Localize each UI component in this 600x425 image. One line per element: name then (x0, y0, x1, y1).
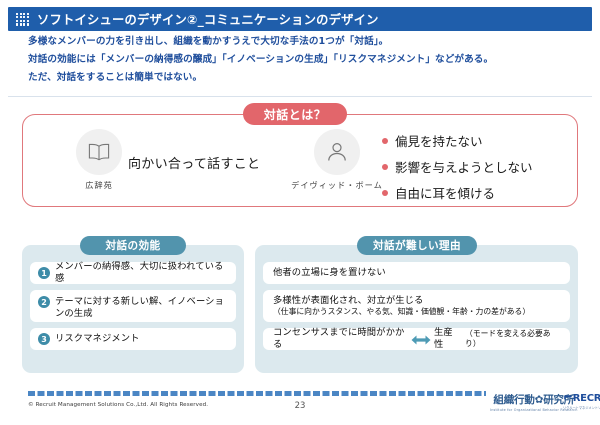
bullet-item: 影響を与えようとしない (382, 157, 533, 176)
bullet-dot-icon (382, 164, 388, 170)
slide-header: ソフトイシューのデザイン②_コミュニケーションのデザイン (8, 7, 592, 31)
bullet-label: 影響を与えようとしない (395, 157, 533, 176)
bullet-label: 自由に耳を傾ける (395, 183, 495, 202)
difficulty-label-after: 生産性 (434, 327, 461, 351)
grid-icon (16, 13, 29, 26)
intro-line-3: ただ、対話をすることは簡単ではない。 (28, 72, 588, 85)
panel-benefits-title: 対話の効能 (80, 236, 186, 255)
difficulty-label-before: コンセンサスまでに時間がかかる (273, 327, 408, 351)
intro-line-1: 多様なメンバーの力を引き出し、組織を動かすうえで大切な手法の1つが「対話」。 (28, 36, 588, 49)
source-caption: デイヴィッド・ボーム (288, 179, 386, 191)
footer-bar (28, 391, 486, 396)
panel-difficulties-title: 対話が難しい理由 (357, 236, 477, 255)
difficulty-item-3: コンセンサスまでに時間がかかる 生産性 （モードを変える必要あり） (263, 328, 570, 350)
recruit-mark-icon: ⌐ (563, 391, 573, 403)
benefit-item-2: 2 テーマに対する新しい解、イノベーションの生成 (30, 290, 236, 322)
difficulty-item-2: 多様性が表面化され、対立が生じる （仕事に向かうスタンス、やる気、知識・価値観・… (263, 290, 570, 322)
intro-line-2: 対話の効能には「メンバーの納得感の醸成」「イノベーションの生成」「リスクマネジメ… (28, 54, 588, 67)
double-arrow-icon (411, 330, 431, 349)
benefit-item-3: 3 リスクマネジメント (30, 328, 236, 350)
page-title: ソフトイシューのデザイン②_コミュニケーションのデザイン (37, 10, 379, 28)
slide: ソフトイシューのデザイン②_コミュニケーションのデザイン 多様なメンバーの力を引… (0, 0, 600, 425)
logo-recruit-name: ⌐RECRUIT (563, 391, 600, 404)
definition-phrase: 向かい合って話すこと (128, 153, 260, 172)
number-badge: 1 (38, 267, 50, 279)
source-caption: 広辞苑 (64, 179, 134, 191)
benefit-label: メンバーの納得感、大切に扱われている感 (55, 261, 228, 285)
difficulty-label: 多様性が表面化され、対立が生じる (273, 295, 423, 307)
difficulty-item-1: 他者の立場に身を置けない (263, 262, 570, 284)
bullet-item: 自由に耳を傾ける (382, 183, 533, 202)
benefit-label: リスクマネジメント (55, 333, 140, 345)
definition-badge: 対話とは？ (243, 103, 347, 125)
source-kojien: 広辞苑 (64, 129, 134, 191)
bullet-dot-icon (382, 138, 388, 144)
source-david-bohm: デイヴィッド・ボーム (288, 129, 386, 191)
difficulty-sublabel-inline: （モードを変える必要あり） (465, 329, 562, 349)
benefit-item-1: 1 メンバーの納得感、大切に扱われている感 (30, 262, 236, 284)
number-badge: 2 (38, 296, 50, 308)
number-badge: 3 (38, 333, 50, 345)
book-icon (76, 129, 122, 175)
difficulty-sublabel: （仕事に向かうスタンス、やる気、知識・価値観・年齢・力の差がある） (273, 307, 530, 317)
logo-recruit: ⌐RECRUIT リクルートマネジメントソリューションズ (563, 391, 600, 410)
difficulty-label: 他者の立場に身を置けない (273, 267, 386, 279)
bullet-dot-icon (382, 190, 388, 196)
person-icon (314, 129, 360, 175)
divider (8, 96, 592, 97)
logo-recruit-text: RECRUIT (573, 393, 600, 404)
bullet-item: 偏見を持たない (382, 131, 533, 150)
logo-recruit-subtitle: リクルートマネジメントソリューションズ (563, 405, 600, 410)
bullet-label: 偏見を持たない (395, 131, 483, 150)
benefit-label: テーマに対する新しい解、イノベーションの生成 (55, 296, 228, 320)
definition-bullets: 偏見を持たない 影響を与えようとしない 自由に耳を傾ける (382, 131, 533, 209)
intro-text: 多様なメンバーの力を引き出し、組織を動かすうえで大切な手法の1つが「対話」。 対… (28, 36, 588, 90)
